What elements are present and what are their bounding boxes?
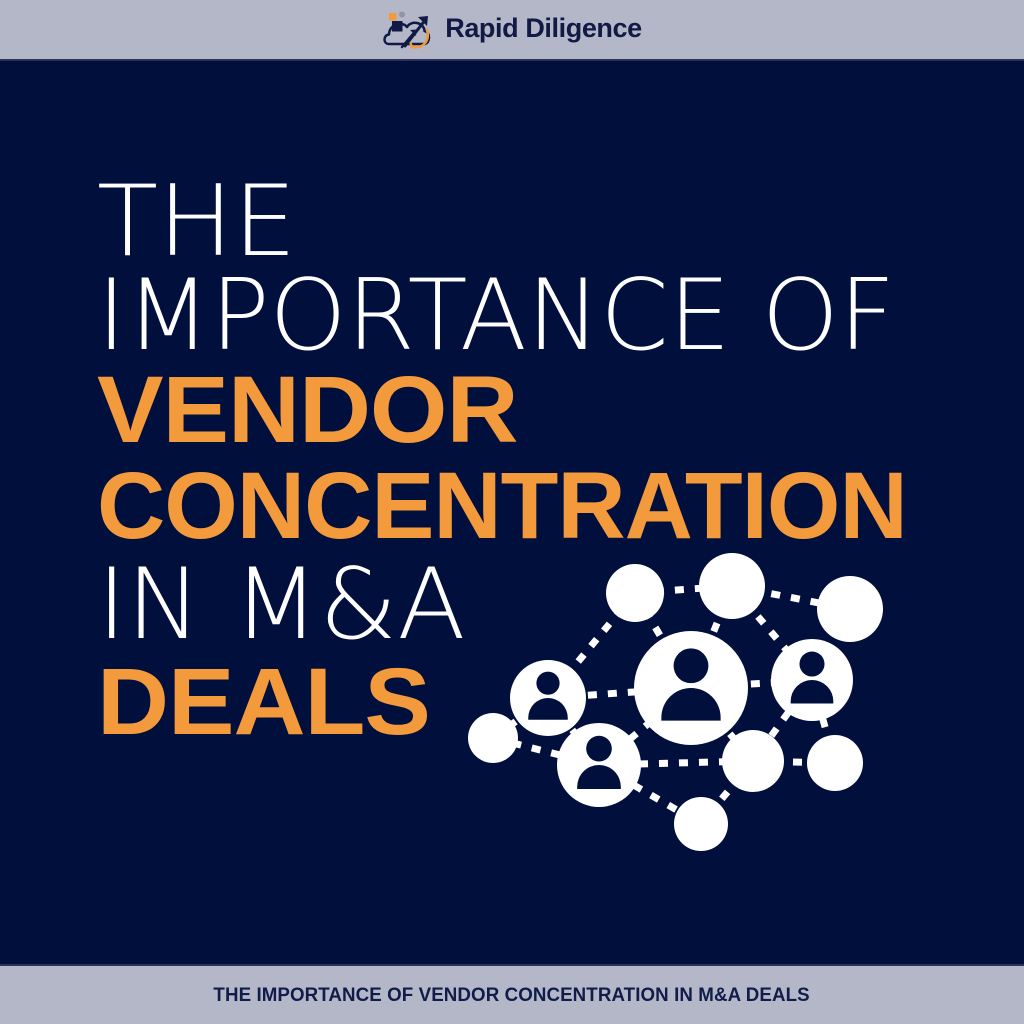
main-stage: THE IMPORTANCE OF VENDOR CONCENTRATION I… bbox=[0, 61, 1024, 964]
title-line-2: IMPORTANCE OF bbox=[97, 268, 947, 364]
title-line-1: THE bbox=[97, 176, 964, 268]
header-band: Rapid Diligence bbox=[0, 0, 1024, 61]
footer-caption: THE IMPORTANCE OF VENDOR CONCENTRATION I… bbox=[214, 984, 810, 1007]
network-node bbox=[674, 797, 728, 851]
title-line-4: CONCENTRATION bbox=[97, 456, 943, 556]
brand-lockup[interactable]: Rapid Diligence bbox=[382, 7, 642, 51]
page-title: THE IMPORTANCE OF VENDOR CONCENTRATION I… bbox=[97, 176, 947, 750]
brand-name: Rapid Diligence bbox=[445, 13, 642, 44]
footer-band: THE IMPORTANCE OF VENDOR CONCENTRATION I… bbox=[0, 964, 1024, 1024]
node-circle bbox=[674, 797, 728, 851]
cloud-growth-arrow-logo-icon bbox=[382, 7, 434, 51]
poster-canvas: Rapid Diligence THE IMPORTANCE OF VENDOR… bbox=[0, 0, 1024, 1024]
title-line-6: DEALS bbox=[97, 654, 989, 750]
title-line-5: IN M&A bbox=[97, 556, 964, 654]
title-line-3: VENDOR bbox=[97, 364, 989, 456]
